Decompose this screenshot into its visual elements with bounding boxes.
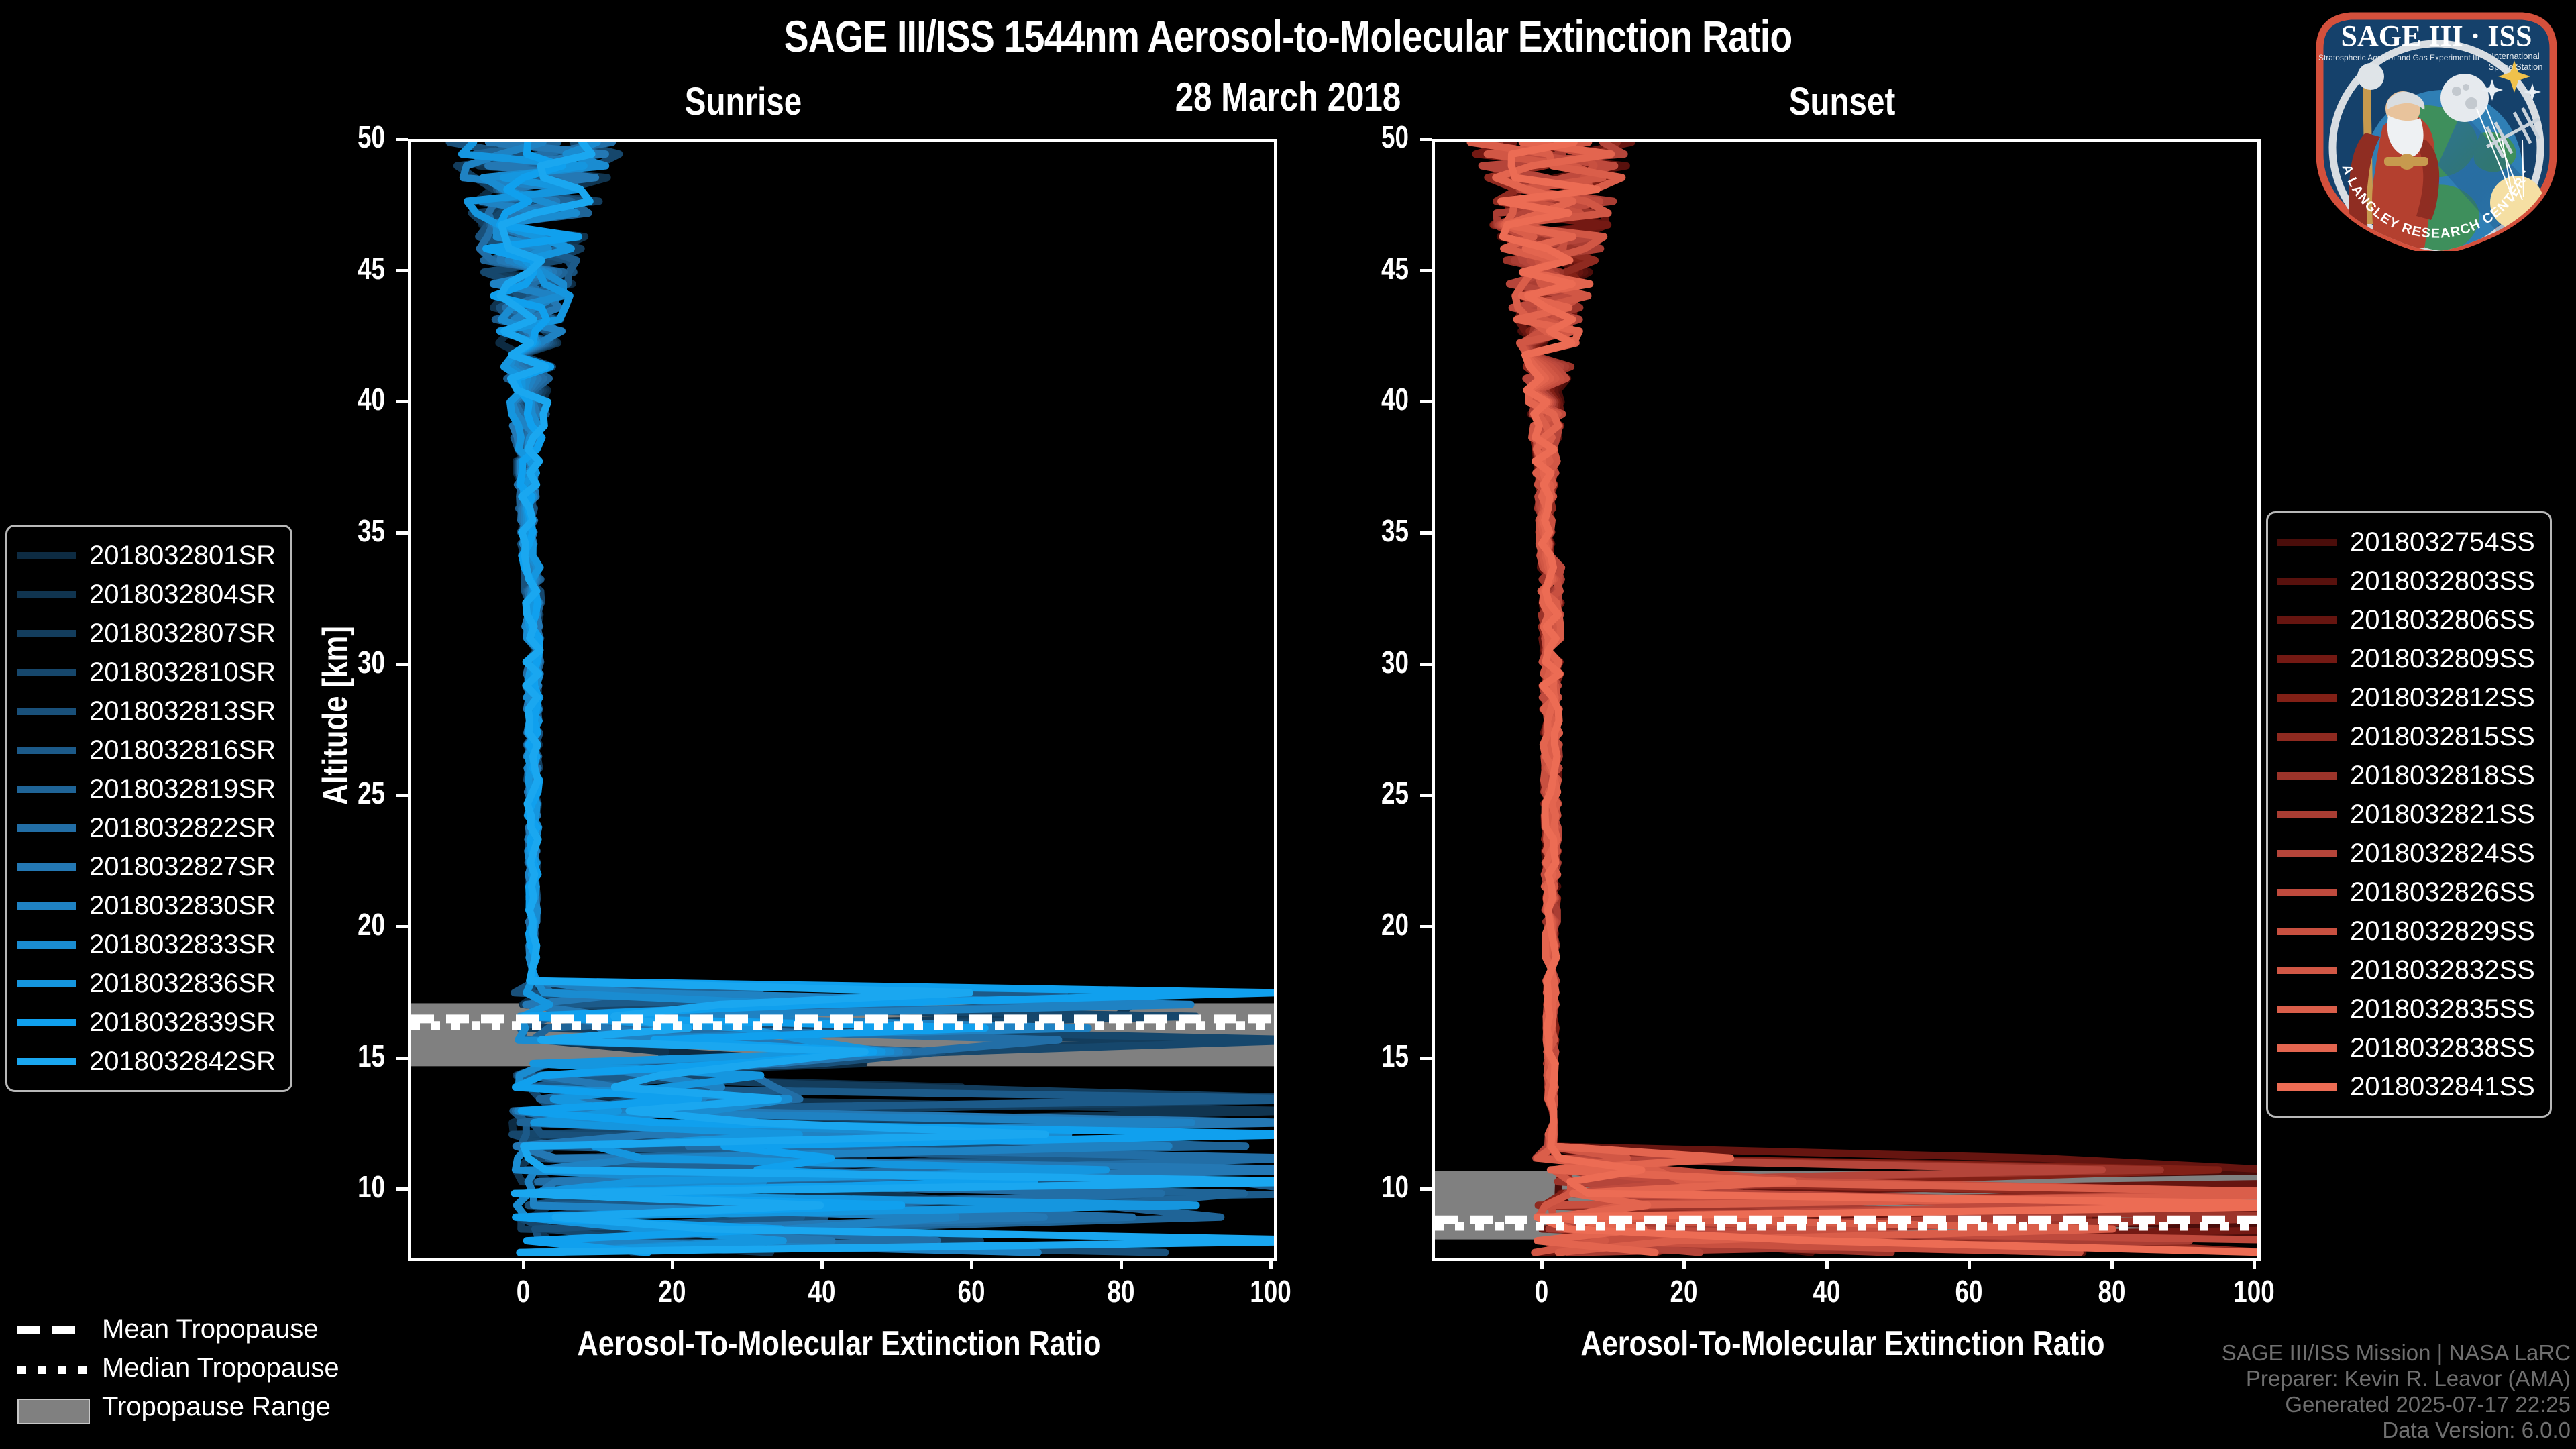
legend-event-label: 2018032826SS: [2350, 877, 2535, 908]
legend-color-swatch: [2277, 1044, 2337, 1052]
x-tick-label: 0: [1493, 1273, 1590, 1309]
x-tick-label: 60: [1921, 1273, 2017, 1309]
y-tick-label: 10: [317, 1169, 385, 1205]
legend-color-swatch: [17, 824, 76, 832]
sunrise-event-legend-row[interactable]: 2018032822SR: [17, 808, 276, 847]
y-tick-label: 30: [1341, 644, 1409, 680]
credits-line-mission: SAGE III/ISS Mission | NASA LaRC: [2222, 1340, 2571, 1366]
sunset-event-legend-row[interactable]: 2018032824SS: [2277, 834, 2535, 873]
y-tick-mark: [396, 269, 408, 272]
y-tick-mark: [1420, 1057, 1432, 1060]
sunrise-legend[interactable]: 2018032801SR2018032804SR2018032807SR2018…: [5, 525, 292, 1092]
legend-color-swatch: [17, 1019, 76, 1026]
y-tick-mark: [396, 138, 408, 141]
legend-row-mean-tropopause: Mean Tropopause: [17, 1309, 393, 1348]
sunset-legend[interactable]: 2018032754SS2018032803SS2018032806SS2018…: [2266, 511, 2552, 1118]
x-tick-label: 100: [2206, 1273, 2302, 1309]
x-tick-label: 80: [1073, 1273, 1169, 1309]
y-tick-label: 35: [1341, 513, 1409, 549]
y-tick-mark: [396, 400, 408, 403]
sunset-event-legend-row[interactable]: 2018032841SS: [2277, 1067, 2535, 1106]
x-tick-mark: [1825, 1258, 1829, 1269]
x-tick-label: 80: [2063, 1273, 2160, 1309]
legend-event-label: 2018032841SS: [2350, 1072, 2535, 1102]
profile-line: [1485, 142, 2258, 1252]
profile-line: [1496, 142, 2257, 1252]
legend-color-swatch: [2277, 655, 2337, 663]
profile-line: [1518, 142, 2258, 1252]
legend-event-label: 2018032835SS: [2350, 994, 2535, 1024]
legend-event-label: 2018032818SS: [2350, 761, 2535, 791]
y-tick-mark: [396, 1057, 408, 1060]
legend-event-label: 2018032819SR: [89, 774, 276, 804]
tropopause-legend: Mean Tropopause Median Tropopause Tropop…: [17, 1309, 393, 1426]
legend-event-label: 2018032801SR: [89, 541, 276, 571]
y-tick-mark: [396, 925, 408, 928]
legend-label-mean-tropopause: Mean Tropopause: [102, 1314, 318, 1344]
credits-line-preparer: Preparer: Kevin R. Leavor (AMA): [2222, 1366, 2571, 1392]
patch-title: SAGE III · ISS: [2341, 19, 2532, 52]
legend-event-label: 2018032809SS: [2350, 644, 2535, 674]
legend-event-label: 2018032804SR: [89, 580, 276, 610]
filled-band-icon: [17, 1399, 87, 1415]
y-tick-label: 40: [1341, 381, 1409, 417]
patch-subtitle-left: Stratospheric Aerosol and Gas Experiment…: [2318, 53, 2479, 62]
sunset-event-legend-row[interactable]: 2018032826SS: [2277, 873, 2535, 912]
legend-event-label: 2018032836SR: [89, 969, 276, 999]
profile-line: [1494, 142, 2257, 1252]
legend-event-label: 2018032829SS: [2350, 916, 2535, 947]
legend-color-swatch: [17, 980, 76, 987]
sunrise-event-legend-row[interactable]: 2018032827SR: [17, 847, 276, 886]
legend-color-swatch: [17, 786, 76, 793]
sunset-event-legend-row[interactable]: 2018032815SS: [2277, 717, 2535, 756]
x-tick-mark: [671, 1258, 674, 1269]
x-tick-mark: [1540, 1258, 1544, 1269]
legend-color-swatch: [2277, 850, 2337, 857]
legend-event-label: 2018032807SR: [89, 619, 276, 649]
x-tick-mark: [1269, 1258, 1273, 1269]
profile-line: [1502, 142, 2257, 1252]
x-tick-mark: [1968, 1258, 1971, 1269]
legend-event-label: 2018032816SR: [89, 735, 276, 765]
legend-event-label: 2018032821SS: [2350, 800, 2535, 830]
y-tick-mark: [1420, 138, 1432, 141]
sunset-event-legend-row[interactable]: 2018032812SS: [2277, 678, 2535, 717]
y-tick-mark: [396, 531, 408, 535]
legend-color-swatch: [17, 591, 76, 598]
legend-label-median-tropopause: Median Tropopause: [102, 1353, 339, 1383]
sunset-plot-canvas: [1435, 142, 2257, 1258]
legend-color-swatch: [2277, 967, 2337, 974]
legend-color-swatch: [17, 552, 76, 559]
x-tick-label: 0: [475, 1273, 572, 1309]
x-tick-label: 40: [1778, 1273, 1875, 1309]
sunrise-plot-canvas: [411, 142, 1274, 1258]
x-tick-mark: [2110, 1258, 2114, 1269]
x-tick-mark: [970, 1258, 973, 1269]
x-tick-label: 20: [624, 1273, 720, 1309]
y-tick-label: 45: [1341, 250, 1409, 286]
legend-event-label: 2018032815SS: [2350, 722, 2535, 752]
patch-subtitle-right-2: Space Station: [2489, 62, 2543, 72]
sunrise-event-legend-row[interactable]: 2018032842SR: [17, 1042, 276, 1081]
profile-line: [1482, 142, 2237, 1252]
y-tick-mark: [1420, 1187, 1432, 1191]
y-axis-title: Altitude [km]: [315, 626, 356, 805]
credits-line-generated: Generated 2025-07-17 22:25: [2222, 1392, 2571, 1418]
y-tick-label: 45: [317, 250, 385, 286]
y-tick-label: 40: [317, 381, 385, 417]
y-tick-label: 15: [1341, 1038, 1409, 1074]
sunset-panel-title: Sunset: [1732, 79, 1952, 124]
y-tick-mark: [396, 1187, 408, 1191]
y-tick-mark: [396, 663, 408, 666]
y-tick-label: 50: [1341, 119, 1409, 155]
sunrise-event-legend-row[interactable]: 2018032830SR: [17, 886, 276, 925]
legend-event-label: 2018032812SS: [2350, 683, 2535, 713]
y-tick-label: 50: [317, 119, 385, 155]
sunset-event-legend-row[interactable]: 2018032809SS: [2277, 639, 2535, 678]
legend-event-label: 2018032803SS: [2350, 566, 2535, 596]
legend-event-label: 2018032842SR: [89, 1046, 276, 1077]
x-axis-title: Aerosol-To-Molecular Extinction Ratio: [1446, 1324, 2240, 1364]
y-tick-label: 20: [1341, 906, 1409, 943]
legend-color-swatch: [17, 630, 76, 637]
legend-color-swatch: [2277, 928, 2337, 935]
legend-color-swatch: [2277, 539, 2337, 546]
legend-color-swatch: [2277, 889, 2337, 896]
y-tick-label: 35: [317, 513, 385, 549]
sunrise-event-legend-row[interactable]: 2018032810SR: [17, 653, 276, 692]
sunrise-event-legend-row[interactable]: 2018032807SR: [17, 614, 276, 653]
sage-iii-iss-mission-patch-icon: SAGE III · ISS Stratospheric Aerosol and…: [2301, 1, 2572, 251]
legend-event-label: 2018032822SR: [89, 813, 276, 843]
legend-event-label: 2018032832SS: [2350, 955, 2535, 985]
legend-event-label: 2018032813SR: [89, 696, 276, 727]
y-tick-mark: [396, 794, 408, 797]
profile-line: [1470, 142, 2257, 1252]
sunset-event-legend-row[interactable]: 2018032835SS: [2277, 989, 2535, 1028]
legend-color-swatch: [2277, 1006, 2337, 1013]
legend-event-label: 2018032806SS: [2350, 605, 2535, 635]
legend-event-label: 2018032838SS: [2350, 1033, 2535, 1063]
x-tick-mark: [1682, 1258, 1686, 1269]
legend-event-label: 2018032824SS: [2350, 839, 2535, 869]
credits-block: SAGE III/ISS Mission | NASA LaRC Prepare…: [2222, 1340, 2571, 1444]
legend-color-swatch: [17, 941, 76, 949]
sunrise-event-legend-row[interactable]: 2018032819SR: [17, 769, 276, 808]
y-tick-label: 15: [317, 1038, 385, 1074]
sunrise-event-legend-row[interactable]: 2018032804SR: [17, 575, 276, 614]
sunset-event-legend-row[interactable]: 2018032803SS: [2277, 561, 2535, 600]
legend-event-label: 2018032839SR: [89, 1008, 276, 1038]
page-title: SAGE III/ISS 1544nm Aerosol-to-Molecular…: [206, 11, 2370, 62]
legend-color-swatch: [2277, 733, 2337, 741]
legend-color-swatch: [17, 747, 76, 754]
profile-line: [1512, 142, 2151, 1252]
profile-line: [1493, 142, 2218, 1252]
y-tick-mark: [1420, 531, 1432, 535]
profile-line: [1488, 142, 2257, 1252]
legend-color-swatch: [17, 902, 76, 910]
y-tick-label: 20: [317, 906, 385, 943]
sunset-event-legend-row[interactable]: 2018032821SS: [2277, 795, 2535, 834]
profile-line: [1501, 142, 2258, 1252]
legend-color-swatch: [17, 708, 76, 715]
legend-event-label: 2018032810SR: [89, 657, 276, 688]
sunrise-event-legend-row[interactable]: 2018032836SR: [17, 964, 276, 1003]
sunrise-event-legend-row[interactable]: 2018032813SR: [17, 692, 276, 731]
patch-subtitle-right-1: International: [2491, 51, 2540, 61]
profile-line: [1497, 142, 2190, 1252]
y-tick-mark: [1420, 400, 1432, 403]
sunset-event-legend-row[interactable]: 2018032832SS: [2277, 951, 2535, 989]
y-tick-mark: [1420, 925, 1432, 928]
legend-color-swatch: [2277, 694, 2337, 702]
x-axis-title: Aerosol-To-Molecular Extinction Ratio: [425, 1324, 1252, 1364]
sunrise-panel-title: Sunrise: [633, 79, 853, 124]
sunset-event-legend-row[interactable]: 2018032838SS: [2277, 1028, 2535, 1067]
legend-event-label: 2018032827SR: [89, 852, 276, 882]
x-tick-label: 20: [1635, 1273, 1732, 1309]
legend-event-label: 2018032830SR: [89, 891, 276, 921]
legend-color-swatch: [17, 1058, 76, 1065]
legend-color-swatch: [2277, 772, 2337, 780]
legend-color-swatch: [2277, 578, 2337, 585]
y-tick-mark: [1420, 794, 1432, 797]
dotted-line-icon: [17, 1360, 87, 1376]
y-tick-label: 25: [1341, 775, 1409, 811]
legend-event-label: 2018032833SR: [89, 930, 276, 960]
credits-line-data-version: Data Version: 6.0.0: [2222, 1417, 2571, 1444]
dashed-line-icon: [17, 1321, 87, 1337]
sunrise-event-legend-row[interactable]: 2018032816SR: [17, 731, 276, 769]
x-tick-mark: [1120, 1258, 1123, 1269]
y-tick-label: 10: [1341, 1169, 1409, 1205]
x-tick-label: 40: [773, 1273, 870, 1309]
x-tick-mark: [522, 1258, 525, 1269]
sunset-plot-area: [1432, 139, 2261, 1261]
sunset-event-legend-row[interactable]: 2018032829SS: [2277, 912, 2535, 951]
sunrise-plot-area: [408, 139, 1277, 1261]
x-tick-label: 60: [923, 1273, 1020, 1309]
legend-row-tropopause-range: Tropopause Range: [17, 1387, 393, 1426]
sunrise-event-legend-row[interactable]: 2018032833SR: [17, 925, 276, 964]
sunset-event-legend-row[interactable]: 2018032754SS: [2277, 523, 2535, 561]
sunset-event-legend-row[interactable]: 2018032806SS: [2277, 600, 2535, 639]
x-tick-mark: [820, 1258, 824, 1269]
legend-color-swatch: [2277, 811, 2337, 818]
legend-color-swatch: [2277, 616, 2337, 624]
legend-color-swatch: [2277, 1083, 2337, 1091]
sunset-event-legend-row[interactable]: 2018032818SS: [2277, 756, 2535, 795]
legend-event-label: 2018032754SS: [2350, 527, 2535, 557]
x-tick-mark: [2253, 1258, 2256, 1269]
legend-row-median-tropopause: Median Tropopause: [17, 1348, 393, 1387]
y-tick-mark: [1420, 663, 1432, 666]
profile-line: [1476, 142, 2257, 1252]
legend-color-swatch: [17, 669, 76, 676]
sunrise-event-legend-row[interactable]: 2018032801SR: [17, 536, 276, 575]
sunrise-event-legend-row[interactable]: 2018032839SR: [17, 1003, 276, 1042]
y-tick-mark: [1420, 269, 1432, 272]
page-subtitle: 28 March 2018: [232, 74, 2345, 120]
legend-color-swatch: [17, 863, 76, 871]
legend-label-tropopause-range: Tropopause Range: [102, 1392, 331, 1422]
x-tick-label: 100: [1222, 1273, 1319, 1309]
